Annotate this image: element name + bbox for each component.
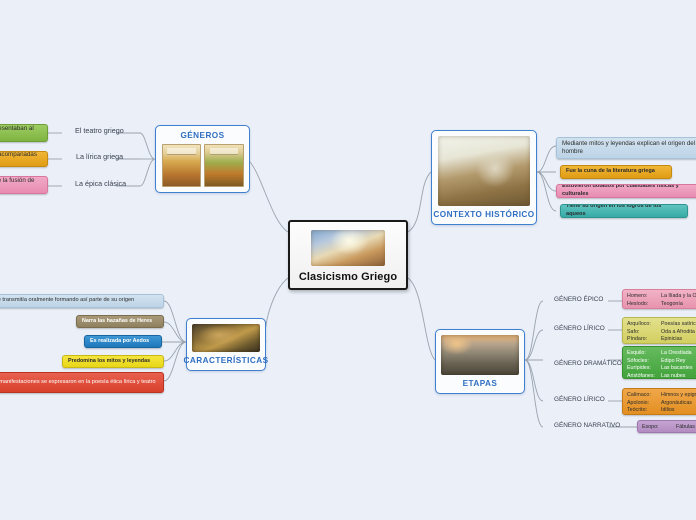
author-name: Sófocles: [627,358,657,366]
branch-label-genero-lirico-2[interactable]: GÉNERO LÍRICO [554,396,605,403]
author-chip-genero-lirico-2[interactable]: Calímaco:Himnos y epigramas Apolonio:Arg… [622,388,696,415]
leaf-chip-caract-2[interactable]: Es realizada por Aedos [84,335,162,348]
author-work: Edipo Rey [661,358,685,366]
author-name: Esquilo: [627,350,657,358]
leaf-chip-caract-0[interactable]: Se transmitía oralmente formando así par… [0,294,164,308]
author-chip-genero-narrativo[interactable]: Esopo:Fábulas [637,420,696,433]
book-cover-right [204,144,244,187]
author-work: Epinicias [661,336,682,344]
author-work: La Orestíada [661,350,692,358]
branch-label-genero-lirico-1[interactable]: GÉNERO LÍRICO [554,325,605,332]
author-work: Fábulas [676,424,695,432]
greek-literature-book-covers [162,144,244,187]
olympus-painting-thumbnail [311,230,385,266]
author-work: Poesías satíricas [661,321,696,329]
topic-label-caracteristicas: CARACTERÍSTICAS [184,356,269,365]
leaf-chip-generos-1[interactable]: Poesías acompañadas por la lira [0,151,48,167]
author-name: Arquíloco: [627,321,657,329]
topic-node-contexto-historico[interactable]: CONTEXTO HISTÓRICO [431,130,537,225]
author-work: Idilios [661,407,675,415]
author-work: La Ilíada y la Odisea [661,293,696,301]
author-name: Píndaro: [627,336,657,344]
leaf-chip-contexto-3[interactable]: Tiene su origen en los logros de los aqu… [560,204,688,218]
author-name: Eurípides: [627,365,657,373]
leaf-chip-contexto-1[interactable]: Fue la cuna de la literatura griega [560,165,672,179]
author-work: Himnos y epigramas [661,392,696,400]
greek-warriors-statue [438,136,530,206]
author-work: Teogonía [661,301,683,309]
book-cover-left [162,144,202,187]
topic-node-etapas[interactable]: ETAPAS [435,329,525,394]
leaf-chip-generos-2[interactable]: Nace de la fusión de este [0,176,48,194]
trojan-war-painting [192,324,260,352]
topic-label-contexto-historico: CONTEXTO HISTÓRICO [433,210,534,219]
leaf-chip-caract-1[interactable]: Narra las hazañas de Heres [76,315,164,328]
author-name: Hesíodo: [627,301,657,309]
author-name: Aristófanes: [627,373,657,379]
author-work: Argonáuticas [661,400,692,408]
author-work: Las nubes [661,373,685,379]
leaf-chip-caract-4[interactable]: Sus manifestaciones se expresaron en la … [0,372,164,393]
branch-label-epica[interactable]: La épica clásica [75,179,126,188]
branch-label-genero-epico[interactable]: GÉNERO ÉPICO [554,296,603,303]
topic-label-generos: GÉNEROS [180,131,224,140]
topic-node-caracteristicas[interactable]: CARACTERÍSTICAS [186,318,266,371]
author-chip-genero-epico[interactable]: Homero:La Ilíada y la Odisea Hesíodo:Teo… [622,289,696,309]
leaf-chip-contexto-0[interactable]: Mediante mitos y leyendas explican el or… [556,137,696,159]
author-name: Safo: [627,329,657,337]
branch-label-genero-dramatico[interactable]: GÉNERO DRAMÁTICO [554,360,622,367]
author-chip-genero-dramatico[interactable]: Esquilo:La Orestíada Sófocles:Edipo Rey … [622,346,696,379]
author-name: Apolonio: [627,400,657,408]
root-node[interactable]: Clasicismo Griego [288,220,408,290]
author-name: Teócrito: [627,407,657,415]
topic-label-etapas: ETAPAS [463,379,498,388]
ancient-greek-city-painting [441,335,519,375]
mindmap-canvas: Clasicismo Griego GÉNEROS El teatro grie… [0,0,696,520]
branch-label-lirica[interactable]: La lírica griega [76,152,123,161]
root-node-label: Clasicismo Griego [299,271,397,283]
author-name: Calímaco: [627,392,657,400]
leaf-chip-generos-0[interactable]: Se representaban al dios [0,124,48,142]
author-work: Las bacantes [661,365,693,373]
branch-label-genero-narrativo[interactable]: GÉNERO NARRATIVO [554,422,620,429]
leaf-chip-contexto-2[interactable]: Estuvieron dotados por cualidades física… [556,184,696,198]
leaf-chip-caract-3[interactable]: Predomina los mitos y leyendas [62,355,164,368]
author-name: Esopo: [642,424,672,432]
author-chip-genero-lirico-1[interactable]: Arquíloco:Poesías satíricas Safo:Oda a A… [622,317,696,344]
author-work: Oda a Afrodita [661,329,695,337]
branch-label-teatro[interactable]: El teatro griego [75,126,124,135]
topic-node-generos[interactable]: GÉNEROS [155,125,250,193]
author-name: Homero: [627,293,657,301]
